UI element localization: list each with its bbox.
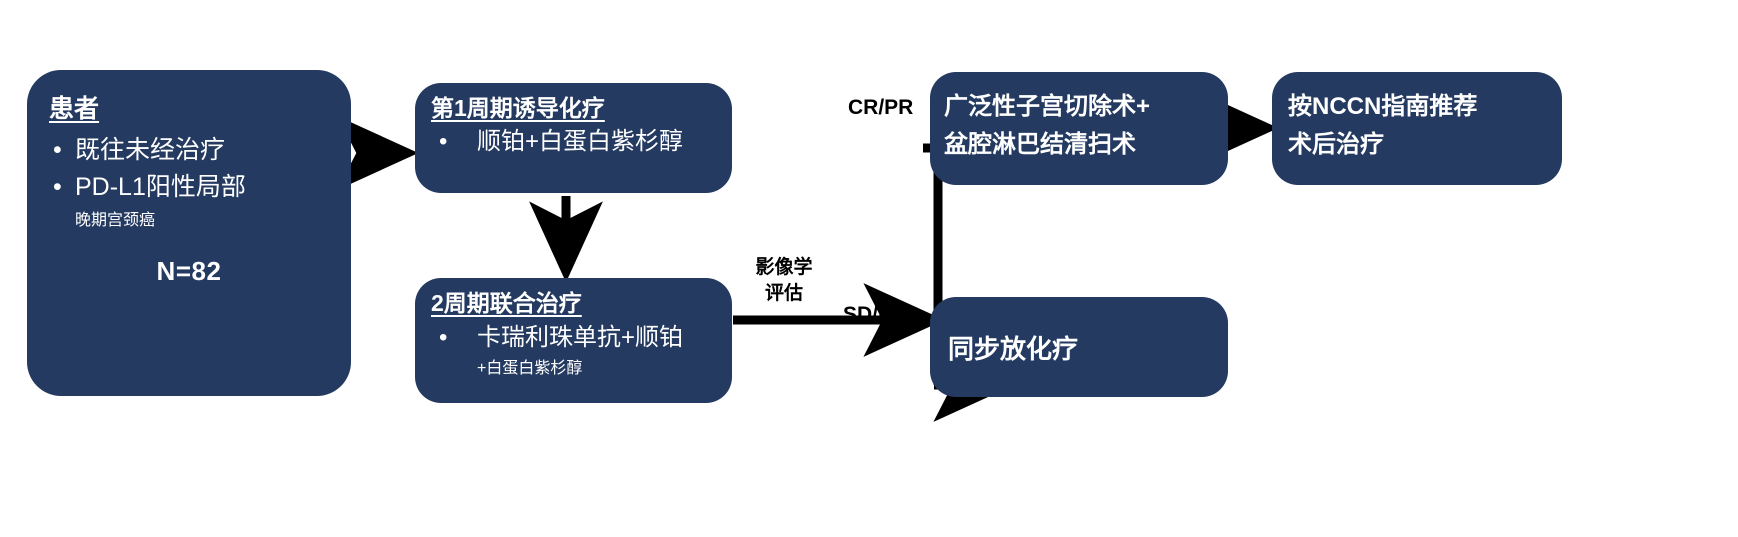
node-nccn-postop-therapy-line1: 按NCCN指南推荐: [1288, 88, 1546, 126]
node-induction-chemo-bullets: 顺铂+白蛋白紫杉醇: [429, 125, 718, 159]
node-combination-therapy-bullets: 卡瑞利珠单抗+顺铂: [429, 321, 718, 354]
list-item: PD-L1阳性局部: [47, 169, 331, 206]
node-combination-therapy[interactable]: 2周期联合治疗 卡瑞利珠单抗+顺铂 +白蛋白紫杉醇: [415, 278, 732, 403]
node-combination-therapy-title: 2周期联合治疗: [431, 288, 718, 319]
node-induction-chemo[interactable]: 第1周期诱导化疗 顺铂+白蛋白紫杉醇: [415, 83, 732, 193]
node-radical-surgery[interactable]: 广泛性子宫切除术+ 盆腔淋巴结清扫术: [930, 72, 1228, 185]
node-nccn-postop-therapy-line2: 术后治疗: [1288, 126, 1546, 164]
node-combination-therapy-continuation: +白蛋白紫杉醇: [429, 354, 718, 378]
edge-label-imaging-assessment-line2: 评估: [748, 281, 820, 307]
node-concurrent-chemoradiation-label: 同步放化疗: [948, 329, 1078, 366]
node-patients-bullets: 既往未经治疗 PD-L1阳性局部: [47, 132, 331, 206]
list-item: 顺铂+白蛋白紫杉醇: [429, 125, 718, 159]
list-item: 卡瑞利珠单抗+顺铂: [429, 321, 718, 354]
node-induction-chemo-title: 第1周期诱导化疗: [431, 93, 718, 123]
list-item: 既往未经治疗: [47, 132, 331, 169]
node-radical-surgery-line2: 盆腔淋巴结清扫术: [944, 126, 1214, 164]
node-patients-sample-size: N=82: [47, 256, 331, 287]
node-nccn-postop-therapy[interactable]: 按NCCN指南推荐 术后治疗: [1272, 72, 1562, 185]
edge-label-imaging-assessment-line1: 影像学: [748, 255, 820, 281]
edge-label-imaging-assessment: 影像学 评估: [748, 255, 820, 307]
node-patients[interactable]: 患者 既往未经治疗 PD-L1阳性局部 晚期宫颈癌 N=82: [27, 70, 351, 396]
node-concurrent-chemoradiation[interactable]: 同步放化疗: [930, 297, 1228, 397]
node-patients-bullet-continuation: 晚期宫颈癌: [47, 206, 331, 230]
node-patients-title: 患者: [49, 92, 331, 126]
edge-label-cr-pr: CR/PR: [848, 96, 913, 120]
edge-label-sd-pd: SD/PD: [843, 303, 907, 327]
node-radical-surgery-line1: 广泛性子宫切除术+: [944, 88, 1214, 126]
